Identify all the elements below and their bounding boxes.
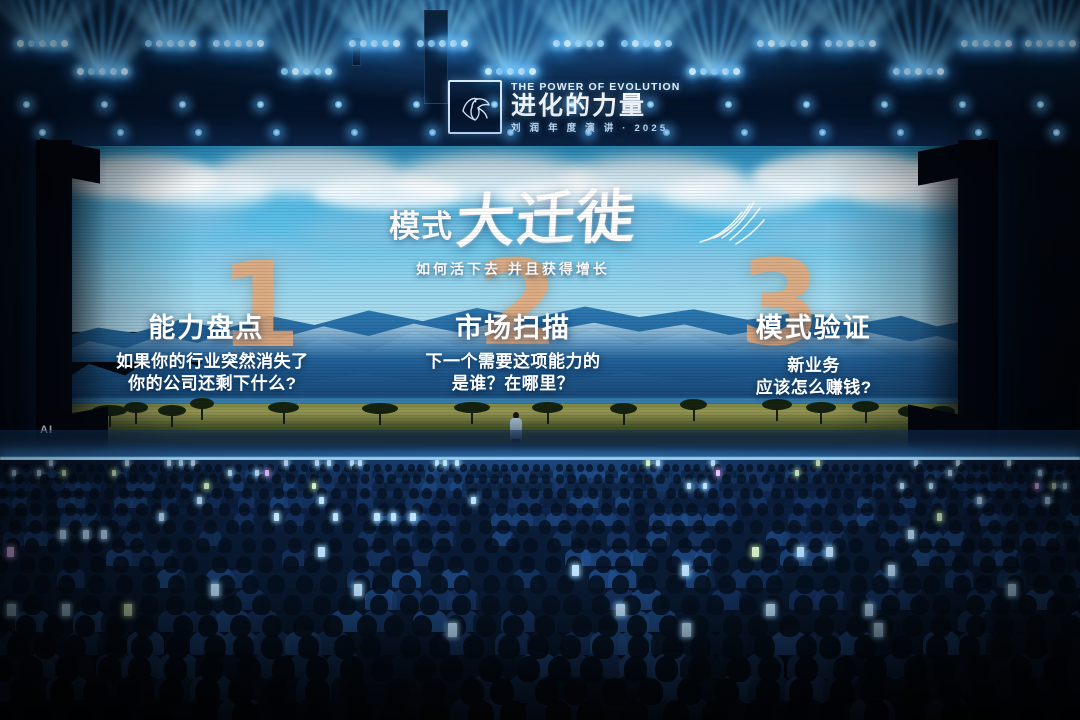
audience-head: [576, 520, 589, 534]
audience-head: [286, 474, 294, 483]
audience-head: [218, 575, 235, 594]
audience-head: [819, 595, 838, 616]
audience-head: [543, 464, 550, 472]
audience-head: [1047, 595, 1066, 616]
audience-phone-screen: [1035, 483, 1039, 489]
audience-head: [236, 556, 252, 573]
audience-head: [46, 520, 59, 534]
hanging-lamp: [178, 100, 187, 109]
audience-head: [465, 474, 473, 483]
audience-head: [798, 488, 808, 499]
audience-phone-screen: [112, 470, 116, 476]
audience-head: [377, 488, 387, 499]
audience-head: [673, 474, 681, 483]
hanging-lamp: [412, 100, 421, 109]
audience-head: [612, 520, 625, 534]
led-pod: [281, 68, 288, 75]
audience-phone-screen: [265, 470, 269, 476]
stage-scene: THE POWER OF EVOLUTION 进化的力量 刘 润 年 度 演 讲…: [0, 0, 1080, 720]
audience-head: [563, 595, 582, 616]
audience-head: [454, 474, 462, 483]
hanging-lamp: [100, 100, 109, 109]
audience-head: [70, 538, 84, 554]
led-pod: [757, 40, 764, 47]
audience-head: [647, 488, 657, 499]
led-pod-row: [893, 68, 944, 75]
audience-head: [991, 595, 1010, 616]
audience-head: [360, 635, 382, 659]
audience-head: [25, 538, 39, 554]
audience-head: [1006, 474, 1014, 483]
audience-head: [303, 520, 316, 534]
audience-head: [1017, 503, 1028, 516]
audience-head: [461, 538, 475, 554]
audience-head: [304, 700, 330, 720]
audience-head: [941, 700, 967, 720]
hanging-lamp: [38, 128, 47, 137]
audience-head: [535, 615, 555, 637]
audience-head: [778, 464, 785, 472]
audience-head: [718, 575, 735, 594]
audience-head: [891, 488, 901, 499]
audience-head: [454, 575, 471, 594]
audience-head: [262, 615, 282, 637]
eagle-emblem-icon: [448, 80, 502, 134]
led-pod: [110, 68, 117, 75]
audience-head: [573, 488, 583, 499]
audience-head: [910, 595, 929, 616]
audience-head: [652, 538, 666, 554]
led-pod: [393, 40, 400, 47]
audience-phone-screen: [908, 530, 914, 539]
audience-head: [353, 538, 367, 554]
led-pod: [1005, 40, 1012, 47]
audience-head: [715, 520, 728, 534]
audience-head: [196, 538, 210, 554]
audience-head: [283, 556, 299, 573]
audience-head: [372, 575, 389, 594]
slide-subtitle: 如何活下去 并且获得增长: [62, 259, 964, 279]
audience-head: [530, 503, 541, 516]
audience-head: [230, 615, 250, 637]
audience-head: [582, 503, 593, 516]
audience-phone-screen: [315, 460, 319, 466]
audience-head: [81, 595, 100, 616]
audience-head: [875, 474, 883, 483]
led-pod: [371, 40, 378, 47]
audience-head: [566, 464, 573, 472]
audience-head: [396, 538, 410, 554]
audience-head: [983, 503, 994, 516]
audience-phone-screen: [354, 584, 362, 596]
audience-head: [875, 538, 889, 554]
led-pod: [937, 68, 944, 75]
led-pod: [654, 40, 661, 47]
audience-head: [429, 635, 451, 659]
audience-head: [34, 635, 56, 659]
audience-head: [579, 474, 587, 483]
column-3-line-2: 应该怎么赚钱?: [663, 377, 964, 399]
screen-bezel-left: [36, 140, 72, 452]
audience-head: [321, 520, 334, 534]
audience-head: [1071, 503, 1080, 516]
audience-head: [927, 464, 934, 472]
audience-phone-screen: [1045, 497, 1050, 504]
audience-head: [652, 520, 665, 534]
audience-phone-screen: [204, 483, 208, 489]
led-pod-row: [621, 40, 672, 47]
audience-head: [1046, 538, 1060, 554]
audience-head: [794, 595, 813, 616]
audience-head: [40, 474, 48, 483]
audience-head: [481, 595, 500, 616]
audience-head: [666, 575, 683, 594]
audience-head: [935, 538, 949, 554]
audience-head: [233, 474, 241, 483]
audience-head: [89, 488, 99, 499]
audience-head: [293, 615, 313, 637]
audience-phone-screen: [471, 497, 476, 504]
audience-head: [7, 635, 29, 659]
audience-phone-screen: [312, 483, 316, 489]
audience-head: [194, 595, 213, 616]
audience-head: [165, 488, 175, 499]
audience-head: [931, 615, 951, 637]
audience-head: [47, 538, 61, 554]
column-3-heading: 模式验证: [663, 306, 964, 345]
audience-head: [476, 615, 496, 637]
audience-head: [288, 538, 302, 554]
audience-head: [874, 488, 884, 499]
audience-head: [766, 575, 783, 594]
led-pod: [869, 40, 876, 47]
audience-head: [117, 474, 125, 483]
audience-head: [995, 488, 1005, 499]
audience-head: [478, 503, 489, 516]
led-pod: [858, 40, 865, 47]
led-pod: [665, 40, 672, 47]
hanging-lamp: [740, 128, 749, 137]
audience-head: [896, 464, 903, 472]
audience-head: [408, 464, 415, 472]
audience-head: [557, 575, 574, 594]
audience-head: [142, 575, 159, 594]
audience-head: [296, 575, 313, 594]
audience-head: [34, 575, 51, 594]
hanging-lamp: [974, 128, 983, 137]
audience-head: [800, 464, 807, 472]
audience-head: [168, 575, 185, 594]
audience-head: [566, 503, 577, 516]
led-pod: [722, 68, 729, 75]
audience-head: [412, 615, 432, 637]
audience-head: [61, 488, 71, 499]
audience-head: [361, 474, 369, 483]
audience-head: [1062, 615, 1080, 637]
audience-head: [357, 503, 368, 516]
audience-head: [980, 556, 996, 573]
audience-head: [46, 503, 57, 516]
hanging-lamp: [272, 128, 281, 137]
led-pod: [99, 68, 106, 75]
audience-head: [517, 520, 530, 534]
hanging-lamp: [350, 128, 359, 137]
audience-head: [499, 488, 509, 499]
audience-head: [29, 520, 42, 534]
audience-head: [723, 488, 733, 499]
audience-phone-screen: [443, 460, 447, 466]
audience-head: [596, 556, 612, 573]
audience-head: [723, 503, 734, 516]
audience-head: [903, 575, 920, 594]
hanging-lamp: [958, 100, 967, 109]
audience-head: [816, 488, 826, 499]
audience-head: [863, 464, 870, 472]
audience-head: [737, 474, 745, 483]
audience-head: [543, 488, 553, 499]
audience-head: [923, 575, 940, 594]
audience-head: [672, 520, 685, 534]
audience-head: [90, 556, 106, 573]
audience-head: [69, 520, 82, 534]
audience-head: [372, 538, 386, 554]
audience-head: [139, 556, 155, 573]
audience-head: [29, 474, 37, 483]
audience-head: [431, 575, 448, 594]
audience-head: [844, 488, 854, 499]
led-pod: [632, 40, 639, 47]
audience-phone-screen: [687, 483, 691, 489]
hanging-lamp: [116, 128, 125, 137]
audience-head: [460, 464, 467, 472]
audience-head: [283, 595, 302, 616]
audience-head: [130, 538, 144, 554]
led-pod: [325, 68, 332, 75]
led-pod-row: [145, 40, 196, 47]
audience-phone-screen: [455, 460, 459, 466]
audience-phone-screen: [374, 513, 379, 521]
audience-head: [1067, 464, 1074, 472]
audience-head: [257, 503, 268, 516]
audience-head: [738, 556, 754, 573]
led-pod-row: [553, 40, 604, 47]
audience-head: [936, 488, 946, 499]
audience-head: [290, 503, 301, 516]
audience-head: [1022, 538, 1036, 554]
screen-bezel-right: [958, 140, 998, 452]
audience-head: [726, 464, 733, 472]
audience-head: [967, 503, 978, 516]
audience-head: [772, 520, 785, 534]
audience-head: [327, 556, 343, 573]
feather-flourish-icon: [696, 198, 768, 248]
led-pod: [1025, 40, 1032, 47]
audience-head: [23, 464, 30, 472]
audience-head: [886, 464, 893, 472]
audience-head: [436, 538, 450, 554]
led-pod: [801, 40, 808, 47]
audience-head: [116, 575, 133, 594]
led-screen: 1 2 3 模式 大迁徙 如何活下去 并且获得增长: [62, 146, 964, 446]
led-pod: [303, 68, 310, 75]
audience-head: [843, 503, 854, 516]
audience-head: [43, 615, 63, 637]
audience-head: [748, 615, 768, 637]
audience-head: [605, 474, 613, 483]
audience-head: [597, 464, 604, 472]
led-pod: [847, 40, 854, 47]
led-pod: [564, 40, 571, 47]
audience-head: [422, 488, 432, 499]
audience-phone-screen: [62, 470, 66, 476]
audience-head: [360, 488, 370, 499]
audience-head: [46, 488, 56, 499]
audience-head: [967, 488, 977, 499]
audience-head: [338, 595, 357, 616]
audience-phone-screen: [228, 470, 232, 476]
audience-phone-screen: [125, 460, 129, 466]
audience-head: [723, 615, 743, 637]
led-pod: [77, 68, 84, 75]
audience-head: [55, 474, 63, 483]
audience-head: [823, 575, 840, 594]
led-pod: [121, 68, 128, 75]
hanging-lamp: [22, 100, 31, 109]
led-pod: [39, 40, 46, 47]
audience-head: [757, 464, 764, 472]
audience-head: [592, 635, 614, 659]
audience-head: [949, 520, 962, 534]
led-pod: [50, 40, 57, 47]
audience-head: [796, 575, 813, 594]
led-pod: [779, 40, 786, 47]
led-pod: [689, 68, 696, 75]
audience-head: [177, 538, 191, 554]
column-1-heading: 能力盘点: [62, 306, 357, 345]
audience-head: [1026, 488, 1036, 499]
led-pod: [1036, 40, 1043, 47]
audience-head: [83, 678, 108, 705]
audience-head: [147, 520, 160, 534]
audience-head: [708, 474, 716, 483]
led-pod: [597, 40, 604, 47]
audience-head: [689, 615, 709, 637]
audience-phone-screen: [167, 460, 171, 466]
audience-head: [272, 474, 280, 483]
audience-phone-screen: [716, 470, 720, 476]
audience-head: [991, 474, 999, 483]
audience-head: [418, 538, 432, 554]
audience-head: [1024, 556, 1040, 573]
hanging-lamp: [802, 100, 811, 109]
audience-head: [509, 595, 528, 616]
audience-seating: [0, 460, 1080, 720]
led-pod: [417, 40, 424, 47]
led-pod: [733, 68, 740, 75]
audience-head: [338, 474, 346, 483]
audience-head: [732, 520, 745, 534]
led-pod: [711, 68, 718, 75]
audience-head: [400, 635, 422, 659]
audience-head: [342, 520, 355, 534]
audience-head: [652, 595, 671, 616]
audience-head: [1069, 474, 1077, 483]
audience-head: [916, 464, 923, 472]
audience-head: [835, 556, 851, 573]
led-pod: [28, 40, 35, 47]
audience-head: [218, 538, 232, 554]
audience-head: [252, 595, 271, 616]
led-pod-row: [825, 40, 876, 47]
audience-head: [20, 556, 36, 573]
audience-phone-screen: [327, 460, 331, 466]
audience-head: [832, 538, 846, 554]
led-pod: [189, 40, 196, 47]
logo-subtitle: 刘 润 年 度 演 讲 · 2025: [511, 120, 680, 134]
audience-head: [556, 464, 563, 472]
audience-phone-screen: [865, 604, 873, 616]
column-2-line-2: 是谁？在哪里？: [363, 373, 664, 395]
logo-english-tagline: THE POWER OF EVOLUTION: [511, 81, 680, 93]
led-pod-row: [349, 40, 400, 47]
audience-head: [881, 595, 900, 616]
audience-phone-screen: [1008, 584, 1016, 596]
audience-head: [722, 474, 730, 483]
audience-head: [380, 556, 396, 573]
audience-head: [1019, 700, 1045, 720]
audience-head: [436, 488, 446, 499]
audience-head: [523, 538, 537, 554]
audience-phone-screen: [284, 460, 288, 466]
audience-head: [497, 520, 510, 534]
audience-head: [847, 520, 860, 534]
audience-head: [100, 503, 111, 516]
audience-head: [975, 575, 992, 594]
audience-head: [116, 503, 127, 516]
audience-head: [429, 503, 440, 516]
led-pod: [450, 40, 457, 47]
audience-head: [768, 464, 775, 472]
audience-head: [420, 595, 439, 616]
audience-head: [409, 488, 419, 499]
audience-head: [586, 464, 593, 472]
audience-head: [1023, 464, 1030, 472]
audience-head: [1072, 488, 1080, 499]
audience-head: [895, 538, 909, 554]
audience-head: [152, 488, 162, 499]
audience-head: [1001, 538, 1015, 554]
audience-head: [258, 556, 274, 573]
led-pod: [972, 40, 979, 47]
audience-head: [622, 595, 641, 616]
audience-head: [621, 464, 628, 472]
slide-columns: 能力盘点 如果你的行业突然消失了 你的公司还剩下什么? 市场扫描 下一个需要这项…: [62, 306, 964, 426]
led-pod: [257, 40, 264, 47]
audience-head: [551, 503, 562, 516]
audience-head: [557, 488, 567, 499]
audience-phone-screen: [826, 547, 833, 557]
audience-phone-screen: [874, 623, 883, 636]
audience-head: [624, 656, 647, 681]
audience-head: [63, 556, 79, 573]
audience-phone-screen: [703, 483, 707, 489]
audience-head: [212, 556, 228, 573]
hanging-lamp: [334, 100, 343, 109]
audience-head: [350, 474, 358, 483]
audience-head: [812, 556, 828, 573]
audience-head: [693, 556, 709, 573]
audience-head: [713, 556, 729, 573]
